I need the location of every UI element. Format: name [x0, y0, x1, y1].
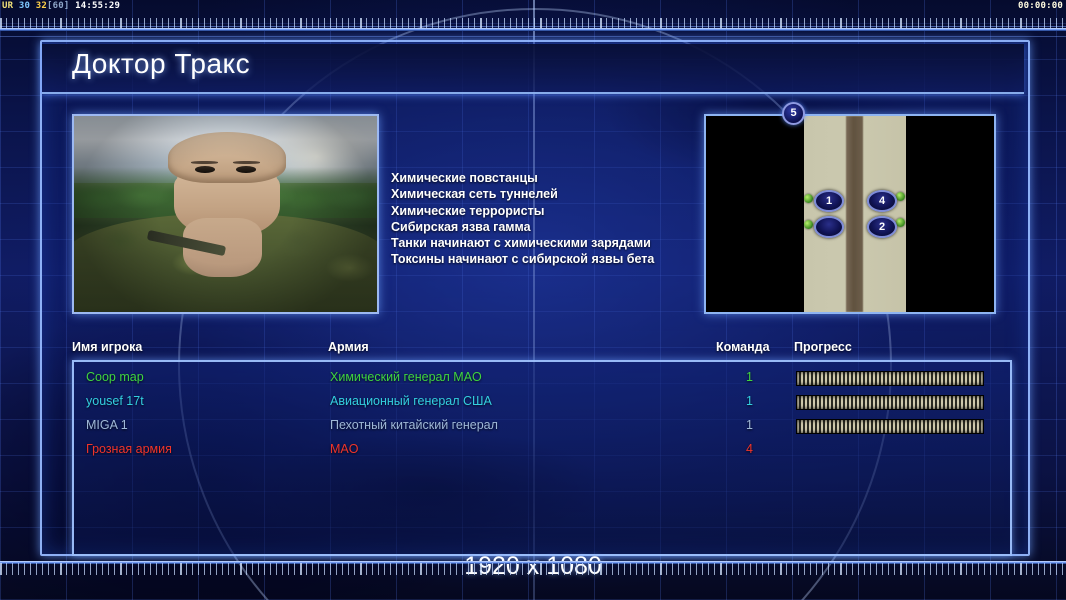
cell-team: 1	[746, 370, 753, 384]
background-hline-second	[0, 36, 1066, 37]
minimap-start-position[interactable]	[814, 216, 844, 238]
cell-player-name: Coop map	[86, 370, 144, 384]
game-lobby-screen: UR 30 32[60] 14:55:29 00:00:00 Доктор Тр…	[0, 0, 1066, 600]
cell-army: Химический генерал MAO	[330, 370, 482, 384]
description-line: Химическая сеть туннелей	[391, 186, 701, 202]
general-portrait-image	[74, 116, 377, 312]
description-line: Химические повстанцы	[391, 170, 701, 186]
cell-army: Пехотный китайский генерал	[330, 418, 498, 432]
player-list-panel: Coop mapХимический генерал MAO1yousef 17…	[72, 360, 1012, 556]
progress-bar	[796, 419, 984, 434]
description-line: Химические террористы	[391, 203, 701, 219]
table-row[interactable]: Грозная армияMAO4	[74, 438, 1010, 462]
fps-overlay: UR 30 32[60] 14:55:29	[2, 1, 120, 11]
minimap-start-position[interactable]: 2	[867, 216, 897, 238]
minimap-supply-icon	[896, 218, 905, 227]
progress-bar	[796, 395, 984, 410]
fps-label: UR	[2, 1, 13, 11]
fps-value-2: 32	[36, 1, 47, 11]
header-progress: Прогресс	[794, 340, 852, 354]
header-player-name: Имя игрока	[72, 340, 142, 354]
minimap-start-position[interactable]: 1	[814, 190, 844, 212]
portrait-vignette	[74, 116, 377, 312]
top-ruler-bar	[0, 28, 1066, 31]
table-row[interactable]: MIGA 1Пехотный китайский генерал1	[74, 414, 1010, 438]
description-line: Токсины начинают с сибирской язвы бета	[391, 251, 701, 267]
cell-team: 1	[746, 394, 753, 408]
fps-value-1: 30	[19, 1, 30, 11]
fps-time: 14:55:29	[75, 1, 120, 11]
table-row[interactable]: yousef 17tАвиационный генерал США1	[74, 390, 1010, 414]
session-timer: 00:00:00	[1018, 1, 1063, 11]
progress-bar	[796, 371, 984, 386]
cell-army: MAO	[330, 442, 358, 456]
cell-team: 4	[746, 442, 753, 456]
player-table-headers: Имя игрока Армия Команда Прогресс	[72, 340, 1012, 360]
page-title: Доктор Тракс	[72, 48, 250, 80]
cell-team: 1	[746, 418, 753, 432]
minimap-player-count-badge: 5	[782, 102, 805, 125]
header-team: Команда	[716, 340, 770, 354]
cell-player-name: MIGA 1	[86, 418, 128, 432]
table-row[interactable]: Coop mapХимический генерал MAO1	[74, 366, 1010, 390]
cell-army: Авиационный генерал США	[330, 394, 492, 408]
cell-player-name: yousef 17t	[86, 394, 144, 408]
minimap-start-position[interactable]: 4	[867, 190, 897, 212]
description-line: Танки начинают с химическими зарядами	[391, 235, 701, 251]
minimap-supply-icon	[804, 194, 813, 203]
description-line: Сибирская язва гамма	[391, 219, 701, 235]
bottom-ruler-ticks	[0, 563, 1066, 575]
minimap-supply-icon	[896, 192, 905, 201]
faction-description-list: Химические повстанцы Химическая сеть тун…	[391, 170, 701, 268]
minimap-supply-icon	[804, 220, 813, 229]
top-ruler-ticks	[0, 18, 1066, 28]
minimap-preview[interactable]: 142	[704, 114, 996, 314]
header-army: Армия	[328, 340, 369, 354]
minimap-road	[846, 116, 863, 312]
fps-bracket: [60]	[47, 1, 69, 11]
general-portrait-frame	[72, 114, 379, 314]
cell-player-name: Грозная армия	[86, 442, 172, 456]
